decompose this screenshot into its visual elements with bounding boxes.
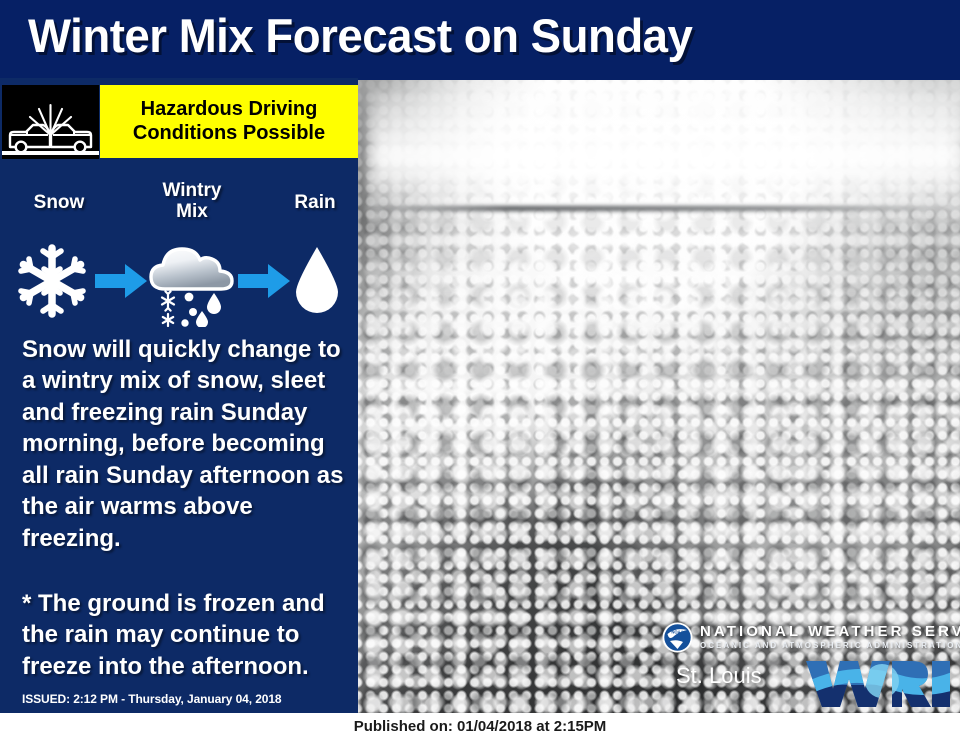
issued-timestamp: ISSUED: 2:12 PM - Thursday, January 04, … <box>22 692 281 706</box>
nws-agency-subtitle: OCEANIC AND ATMOSPHERIC ADMINISTRATION <box>700 642 960 650</box>
step-label-wintry-mix: Wintry Mix <box>140 180 244 223</box>
car-crash-icon <box>2 85 99 159</box>
nws-logo: NOAA NATIONAL WEATHER SERVICE OCEANIC AN… <box>662 620 956 654</box>
step-label-snow: Snow <box>22 192 96 214</box>
snowflake-icon <box>14 243 90 319</box>
forecast-note: * The ground is frozen and the rain may … <box>22 588 354 682</box>
nws-office-name: St. Louis <box>676 663 762 689</box>
step-label-wintry-mix-line-1: Wintry <box>140 180 244 201</box>
nws-logo-text: NATIONAL WEATHER SERVICE OCEANIC AND ATM… <box>700 624 960 650</box>
hazard-banner-line-2: Conditions Possible <box>133 122 325 146</box>
header-bar: Winter Mix Forecast on Sunday <box>0 0 960 80</box>
arrow-right-icon-2 <box>238 263 290 299</box>
svg-text:NOAA: NOAA <box>671 629 683 634</box>
hazard-banner: Hazardous Driving Conditions Possible <box>100 85 358 158</box>
hazard-banner-line-1: Hazardous Driving <box>141 98 318 122</box>
forecast-paragraph: Snow will quickly change to a wintry mix… <box>22 334 354 554</box>
raindrop-icon <box>286 245 348 317</box>
published-timestamp: Published on: 01/04/2018 at 2:15PM <box>354 718 607 735</box>
noaa-seal-icon: NOAA <box>662 622 693 653</box>
weather-ready-nation-logo: WRN <box>800 655 958 713</box>
weather-graphic: Winter Mix Forecast on Sunday <box>0 0 960 740</box>
step-label-wintry-mix-line-2: Mix <box>140 201 244 222</box>
step-label-rain: Rain <box>278 192 352 214</box>
footer-bar: Published on: 01/04/2018 at 2:15PM <box>0 713 960 740</box>
cloud-wintry-mix-icon <box>137 235 245 327</box>
nws-agency-name: NATIONAL WEATHER SERVICE <box>700 624 960 639</box>
page-title: Winter Mix Forecast on Sunday <box>28 8 692 63</box>
